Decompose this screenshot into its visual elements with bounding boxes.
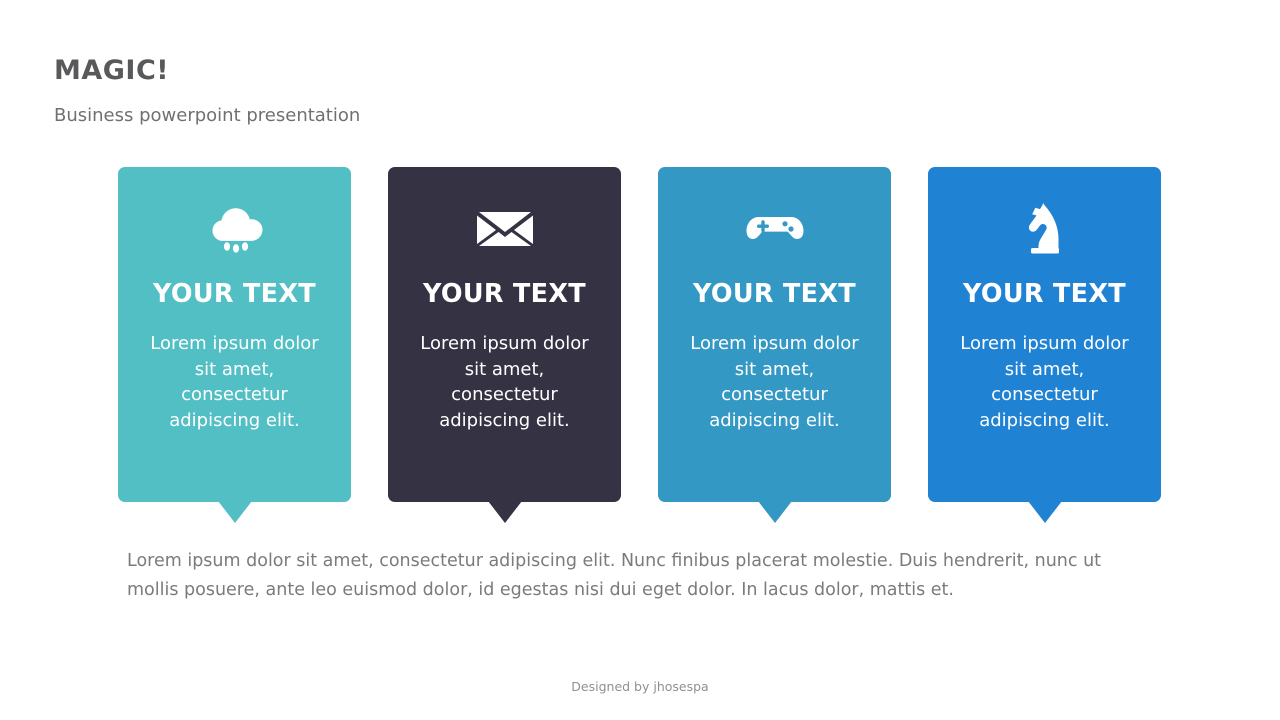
- page-title: MAGIC!: [54, 55, 169, 86]
- card-body-4[interactable]: YOUR TEXT Lorem ipsum dolor sit amet, co…: [928, 167, 1161, 502]
- chess-knight-icon: [928, 167, 1161, 289]
- body-paragraph: Lorem ipsum dolor sit amet, consectetur …: [127, 547, 1147, 605]
- card-text-1: Lorem ipsum dolor sit amet, consectetur …: [118, 331, 351, 433]
- card-text-3: Lorem ipsum dolor sit amet, consectetur …: [658, 331, 891, 433]
- card-title-2: YOUR TEXT: [388, 279, 621, 309]
- card-pointer-2: [488, 501, 522, 523]
- card-body-2[interactable]: YOUR TEXT Lorem ipsum dolor sit amet, co…: [388, 167, 621, 502]
- gamepad-icon: [658, 167, 891, 289]
- card-title-3: YOUR TEXT: [658, 279, 891, 309]
- card-title-4: YOUR TEXT: [928, 279, 1161, 309]
- page-subtitle: Business powerpoint presentation: [54, 105, 360, 126]
- card-text-2: Lorem ipsum dolor sit amet, consectetur …: [388, 331, 621, 433]
- card-body-3[interactable]: YOUR TEXT Lorem ipsum dolor sit amet, co…: [658, 167, 891, 502]
- card-group: YOUR TEXT Lorem ipsum dolor sit amet, co…: [118, 167, 1162, 527]
- card-pointer-3: [758, 501, 792, 523]
- card-3[interactable]: YOUR TEXT Lorem ipsum dolor sit amet, co…: [658, 167, 891, 502]
- card-pointer-4: [1028, 501, 1062, 523]
- cloud-rain-icon: [118, 167, 351, 289]
- card-pointer-1: [218, 501, 252, 523]
- slide: MAGIC! Business powerpoint presentation …: [0, 0, 1280, 720]
- designer-credit: Designed by jhosespa: [0, 679, 1280, 694]
- card-1[interactable]: YOUR TEXT Lorem ipsum dolor sit amet, co…: [118, 167, 351, 502]
- envelope-icon: [388, 167, 621, 289]
- card-body-1[interactable]: YOUR TEXT Lorem ipsum dolor sit amet, co…: [118, 167, 351, 502]
- card-title-1: YOUR TEXT: [118, 279, 351, 309]
- card-2[interactable]: YOUR TEXT Lorem ipsum dolor sit amet, co…: [388, 167, 621, 502]
- card-text-4: Lorem ipsum dolor sit amet, consectetur …: [928, 331, 1161, 433]
- card-4[interactable]: YOUR TEXT Lorem ipsum dolor sit amet, co…: [928, 167, 1161, 502]
